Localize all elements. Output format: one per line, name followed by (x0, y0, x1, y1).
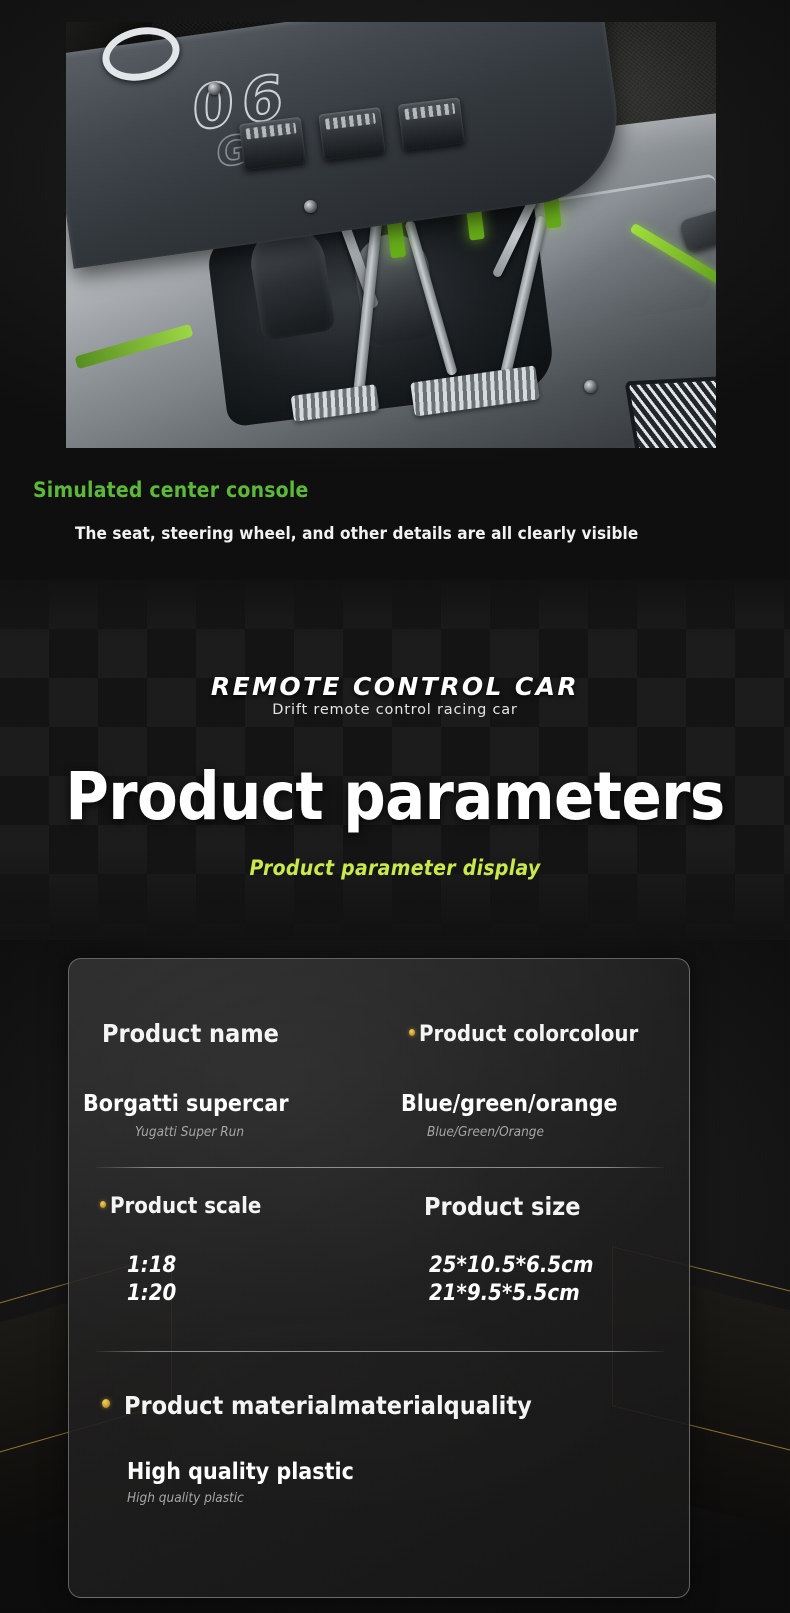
parameters-card: Product name Product colorcolour Borgatt… (68, 958, 690, 1598)
hero-eyebrow-subtitle: Drift remote control racing car (0, 702, 790, 718)
param-label-text: Product name (102, 1019, 279, 1048)
param-value-size-2: 21*9.5*5.5cm (429, 1281, 580, 1306)
product-photo: 06 GT (66, 22, 716, 448)
light-pod (239, 117, 306, 170)
param-value-size-1: 25*10.5*6.5cm (429, 1253, 593, 1278)
hero-section: REMOTE CONTROL CAR Drift remote control … (0, 580, 790, 940)
light-pod (398, 97, 465, 150)
param-value-product-material: High quality plastic (127, 1459, 354, 1485)
param-label-product-name: Product name (102, 1019, 279, 1048)
bullet-dot-icon (102, 1399, 110, 1408)
parameters-section: Product name Product colorcolour Borgatt… (0, 940, 790, 1613)
screw (208, 82, 221, 95)
bullet-dot-icon (100, 1201, 106, 1208)
param-label-product-scale: Product scale (100, 1194, 261, 1219)
bullet-dot-icon (409, 1029, 415, 1036)
param-label-text: Product materialmaterialquality (124, 1391, 532, 1420)
screw (304, 200, 317, 213)
caption-subtitle: The seat, steering wheel, and other deta… (75, 524, 638, 544)
hero-eyebrow: REMOTE CONTROL CAR (0, 672, 790, 701)
page-subtitle: Product parameter display (0, 856, 790, 880)
row-divider (96, 1167, 664, 1168)
screw (584, 380, 597, 393)
param-subvalue-product-material: High quality plastic (127, 1490, 244, 1506)
param-label-text: Product size (424, 1192, 581, 1221)
param-label-product-size: Product size (424, 1192, 581, 1221)
light-pod (318, 107, 385, 160)
param-value-product-color: Blue/green/orange (401, 1091, 618, 1117)
param-label-product-color: Product colorcolour (409, 1022, 638, 1047)
param-label-text: Product scale (110, 1194, 261, 1219)
param-value-product-name: Borgatti supercar (83, 1091, 289, 1117)
photo-section: 06 GT Simulated center console The seat,… (0, 0, 790, 580)
caption-title: Simulated center console (33, 478, 309, 502)
param-label-product-material: Product materialmaterialquality (102, 1391, 532, 1420)
param-value-scale-2: 1:20 (127, 1281, 176, 1306)
param-subvalue-product-name: Yugatti Super Run (135, 1124, 244, 1140)
row-divider (96, 1351, 664, 1352)
param-value-scale-1: 1:18 (127, 1253, 176, 1278)
page-title: Product parameters (0, 758, 790, 835)
mesh-grille (625, 376, 716, 448)
param-label-text: Product colorcolour (419, 1022, 638, 1047)
param-subvalue-product-color: Blue/Green/Orange (427, 1124, 544, 1140)
product-detail-page: 06 GT Simulated center console The seat,… (0, 0, 790, 1613)
